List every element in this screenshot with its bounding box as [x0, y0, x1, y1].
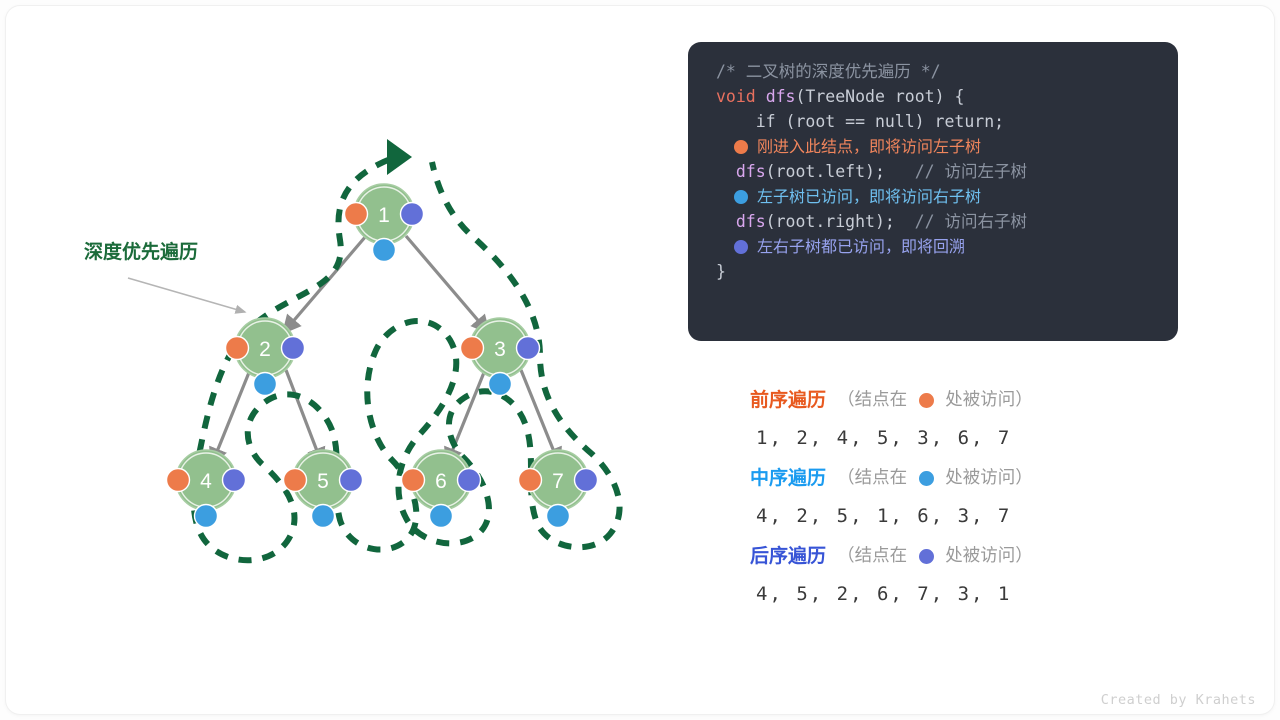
annotation-dot-icon — [734, 240, 748, 254]
tree-node-label: 6 — [435, 470, 447, 493]
traversal-heading: 中序遍历 （结点在 处被访问） — [750, 463, 1170, 493]
code-token: // 访问右子树 — [895, 212, 1027, 231]
postorder-dot — [282, 337, 305, 360]
preorder-dot — [402, 469, 425, 492]
traversal-dot-icon — [919, 471, 934, 486]
traversal-sequence: 4, 5, 2, 6, 7, 3, 1 — [750, 571, 1170, 609]
annotation-dot-icon — [734, 190, 748, 204]
annotation-dot-icon — [734, 140, 748, 154]
dfs-annotation: 深度优先遍历 — [84, 240, 245, 312]
traversal-note-suffix: 处被访问） — [940, 385, 1033, 415]
preorder-dot — [345, 203, 368, 226]
tree-nodes: 1 2 3 — [167, 184, 598, 528]
preorder-dot — [226, 337, 249, 360]
code-line: dfs(root.left); // 访问左子树 — [688, 159, 1178, 184]
code-token: (TreeNode root) { — [796, 87, 965, 106]
traversal-dot-icon — [919, 393, 934, 408]
tree-node-1[interactable]: 1 — [345, 184, 424, 262]
edge-2-4 — [212, 370, 250, 464]
code-token: void — [716, 87, 756, 106]
inorder-dot — [195, 505, 218, 528]
inorder-dot — [547, 505, 570, 528]
code-token: } — [716, 262, 726, 281]
postorder-dot — [340, 469, 363, 492]
traversal-name: 后序遍历 — [750, 541, 826, 571]
preorder-dot — [519, 469, 542, 492]
traversal-note-suffix: 处被访问） — [940, 541, 1033, 571]
preorder-dot — [284, 469, 307, 492]
traversal-note-prefix: （结点在 — [826, 385, 913, 415]
code-annotation: 左右子树都已访问，即将回溯 — [688, 234, 1178, 259]
code-token: dfs — [716, 162, 766, 181]
code-token: dfs — [766, 87, 796, 106]
annotation-text: 左子树已访问，即将访问右子树 — [757, 184, 981, 209]
inorder-dot — [430, 505, 453, 528]
code-line: /* 二叉树的深度优先遍历 */ — [688, 59, 1178, 84]
edge-1-3 — [406, 236, 488, 332]
dfs-label: 深度优先遍历 — [84, 240, 198, 263]
code-token: /* 二叉树的深度优先遍历 */ — [716, 62, 941, 81]
code-token: (root.left); — [766, 162, 885, 181]
traversal-note-prefix: （结点在 — [826, 541, 913, 571]
postorder-dot — [517, 337, 540, 360]
dfs-leader-line — [128, 278, 245, 312]
code-block: /* 二叉树的深度优先遍历 */void dfs(TreeNode root) … — [688, 42, 1178, 341]
code-line: void dfs(TreeNode root) { — [688, 84, 1178, 109]
code-annotation: 刚进入此结点，即将访问左子树 — [688, 134, 1178, 159]
inorder-dot — [373, 239, 396, 262]
figure-canvas: 深度优先遍历 1 2 — [0, 0, 1280, 720]
annotation-text: 左右子树都已访问，即将回溯 — [757, 234, 965, 259]
postorder-dot — [458, 469, 481, 492]
preorder-dot — [167, 469, 190, 492]
traversal-dot-icon — [919, 549, 934, 564]
code-token — [756, 87, 766, 106]
traversal-block: 后序遍历 （结点在 处被访问）4, 5, 2, 6, 7, 3, 1 — [750, 541, 1170, 609]
tree-node-label: 4 — [200, 470, 212, 493]
inorder-dot — [254, 373, 277, 396]
code-token: (root.right); — [766, 212, 895, 231]
postorder-dot — [401, 203, 424, 226]
traversal-block: 前序遍历 （结点在 处被访问）1, 2, 4, 5, 3, 6, 7 — [750, 385, 1170, 453]
traversal-heading: 前序遍历 （结点在 处被访问） — [750, 385, 1170, 415]
traversal-sequence: 4, 2, 5, 1, 6, 3, 7 — [750, 493, 1170, 531]
traversal-name: 前序遍历 — [750, 385, 826, 415]
postorder-dot — [575, 469, 598, 492]
postorder-dot — [223, 469, 246, 492]
traversal-block: 中序遍历 （结点在 处被访问）4, 2, 5, 1, 6, 3, 7 — [750, 463, 1170, 531]
play-arrow-icon — [387, 139, 412, 175]
traversal-legend: 前序遍历 （结点在 处被访问）1, 2, 4, 5, 3, 6, 7中序遍历 （… — [750, 385, 1170, 619]
inorder-dot — [312, 505, 335, 528]
traversal-note-suffix: 处被访问） — [940, 463, 1033, 493]
tree-node-label: 5 — [317, 470, 329, 493]
inorder-dot — [489, 373, 512, 396]
binary-tree-diagram: 深度优先遍历 1 2 — [40, 40, 680, 600]
traversal-sequence: 1, 2, 4, 5, 3, 6, 7 — [750, 415, 1170, 453]
tree-node-label: 3 — [494, 338, 506, 361]
tree-node-label: 1 — [378, 204, 390, 227]
tree-node-label: 2 — [259, 338, 271, 361]
tree-node-label: 7 — [552, 470, 564, 493]
code-line: if (root == null) return; — [688, 109, 1178, 134]
traversal-note-prefix: （结点在 — [826, 463, 913, 493]
code-line: } — [688, 259, 1178, 284]
annotation-text: 刚进入此结点，即将访问左子树 — [757, 134, 981, 159]
code-line: dfs(root.right); // 访问右子树 — [688, 209, 1178, 234]
traversal-heading: 后序遍历 （结点在 处被访问） — [750, 541, 1170, 571]
traversal-name: 中序遍历 — [750, 463, 826, 493]
tree-node-4[interactable]: 4 — [167, 450, 246, 528]
preorder-dot — [461, 337, 484, 360]
code-token: dfs — [716, 212, 766, 231]
watermark: Created by Krahets — [1101, 692, 1256, 708]
code-annotation: 左子树已访问，即将访问右子树 — [688, 184, 1178, 209]
code-token: if (root == null) return; — [716, 112, 1004, 131]
code-token: // 访问左子树 — [885, 162, 1027, 181]
